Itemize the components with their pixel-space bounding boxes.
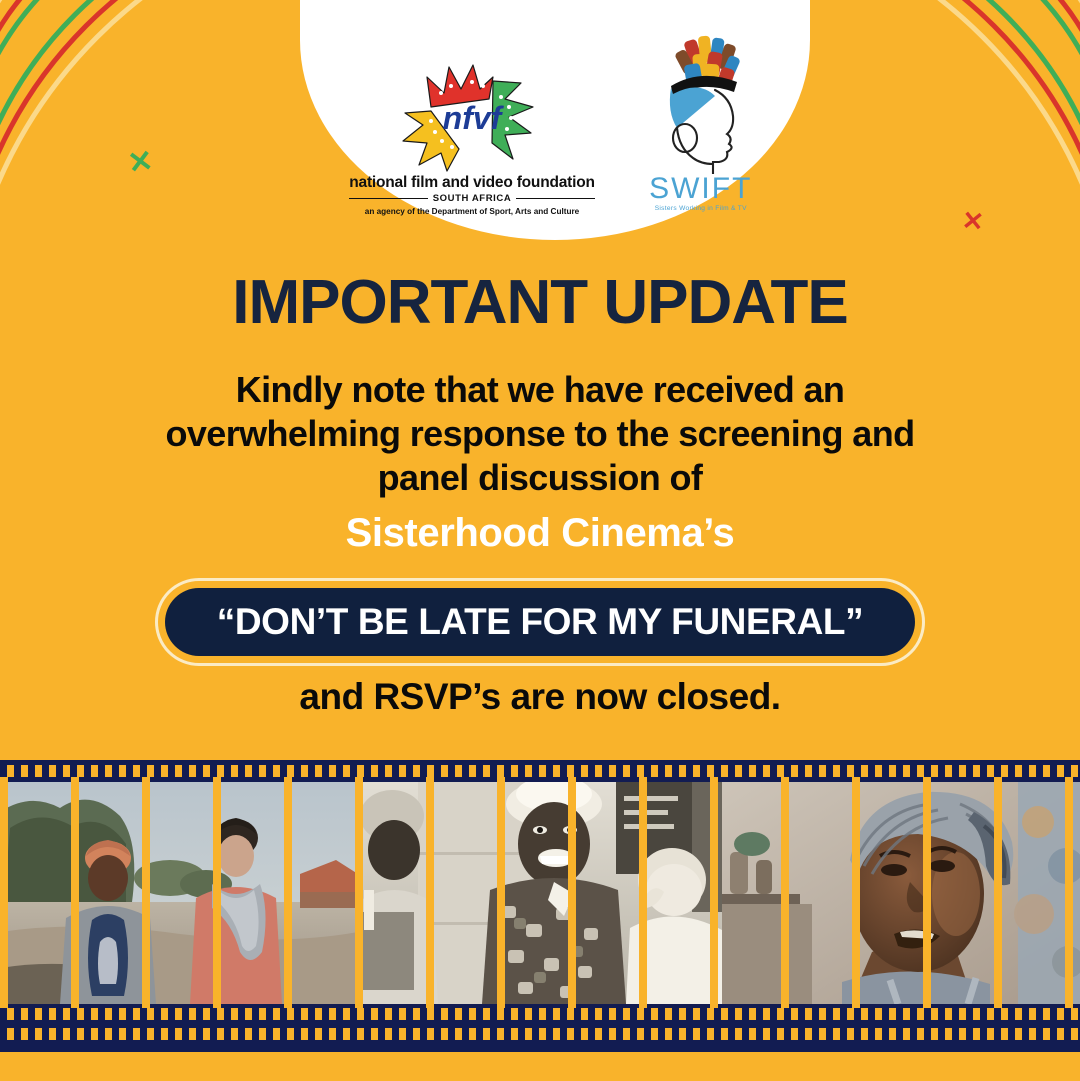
brand-line: Sisterhood Cinema’s [0,511,1080,556]
film-photo-2 [358,782,722,1004]
body-line-2: overwhelming response to the screening a… [90,412,990,456]
svg-text:nfvf: nfvf [443,100,505,136]
body-copy: Kindly note that we have received an ove… [90,368,990,500]
x-mark-red-icon: ✕ [961,207,985,235]
nfvf-agency-line: an agency of the Department of Sport, Ar… [365,207,579,216]
closing-line: and RSVP’s are now closed. [0,676,1080,718]
nfvf-starburst-icon: nfvf [397,59,547,174]
body-line-1: Kindly note that we have received an [90,368,990,412]
film-photo-3 [722,782,1080,1004]
nfvf-logo: nfvf national film and video foundation … [349,59,595,216]
film-perforations-top [0,765,1080,777]
film-photo-3-image [722,782,1080,1004]
swift-logo: SWIFT Sisters Working in Film & TV [641,34,761,216]
logo-banner: nfvf national film and video foundation … [300,0,810,240]
swift-woman-profile-icon [641,34,761,174]
nfvf-country-label: SOUTH AFRICA [433,193,512,204]
film-perforations-bottom [0,1008,1080,1020]
film-photo-1 [0,782,358,1004]
film-photo-2-image [358,782,722,1004]
film-photo-row [0,782,1080,1004]
film-strip [0,760,1080,1052]
film-photo-1-image [0,782,358,1004]
film-title-text: “DON’T BE LATE FOR MY FUNERAL” [217,601,863,643]
nfvf-name: national film and video foundation [349,174,595,192]
film-title-banner: “DON’T BE LATE FOR MY FUNERAL” [165,588,915,656]
swift-tagline: Sisters Working in Film & TV [655,205,747,212]
body-line-3: panel discussion of [90,456,990,500]
x-mark-green-icon: ✕ [126,146,155,179]
poster-canvas: ✕ ✕ [0,0,1080,1081]
page-title: IMPORTANT UPDATE [0,272,1080,334]
swift-wordmark: SWIFT [649,174,752,204]
nfvf-country-rule: SOUTH AFRICA [349,193,595,204]
film-perforations-bottom-outer [0,1028,1080,1040]
